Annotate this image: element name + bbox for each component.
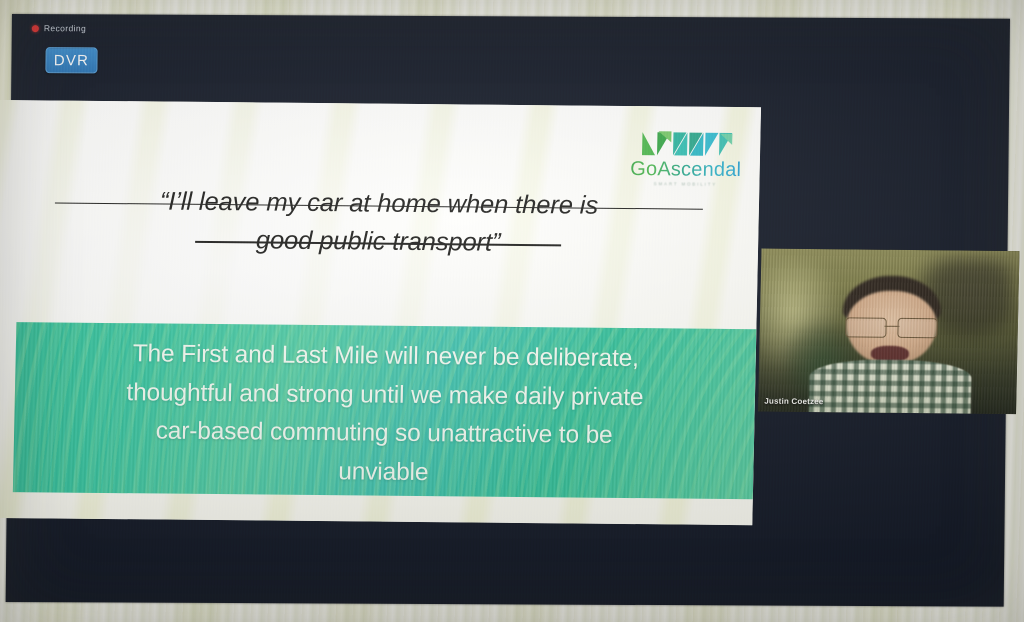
statement-line-4: unviable — [13, 450, 754, 496]
shared-slide[interactable]: GoAscendal SMART MOBILITY “I’ll leave my… — [0, 100, 761, 525]
statement-text: The First and Last Mile will never be de… — [13, 334, 756, 496]
screenshot-root: Recording DVR — [0, 0, 1024, 622]
struck-out-quote: “I’ll leave my car at home when there is… — [48, 182, 710, 264]
video-grain — [758, 249, 1019, 415]
quote-line-2: good public transport” — [48, 220, 709, 264]
recording-status: Recording — [32, 23, 86, 33]
record-dot-icon — [32, 25, 39, 32]
dvr-button[interactable]: DVR — [45, 47, 97, 73]
logo-wordmark: GoAscendal — [624, 159, 748, 180]
triangle-chevron-logo-mark — [640, 128, 733, 159]
quote-line-1: “I’ll leave my car at home when there is — [49, 182, 710, 226]
recording-label: Recording — [44, 23, 86, 33]
brand-logo: GoAscendal SMART MOBILITY — [623, 128, 748, 187]
statement-line-2: thoughtful and strong until we make dail… — [15, 373, 756, 419]
participant-video-tile[interactable]: Justin Coetzee — [758, 249, 1019, 415]
participant-name-label: Justin Coetzee — [764, 397, 823, 407]
conference-app-window: Recording DVR — [6, 14, 1010, 607]
statement-band: The First and Last Mile will never be de… — [13, 322, 757, 499]
